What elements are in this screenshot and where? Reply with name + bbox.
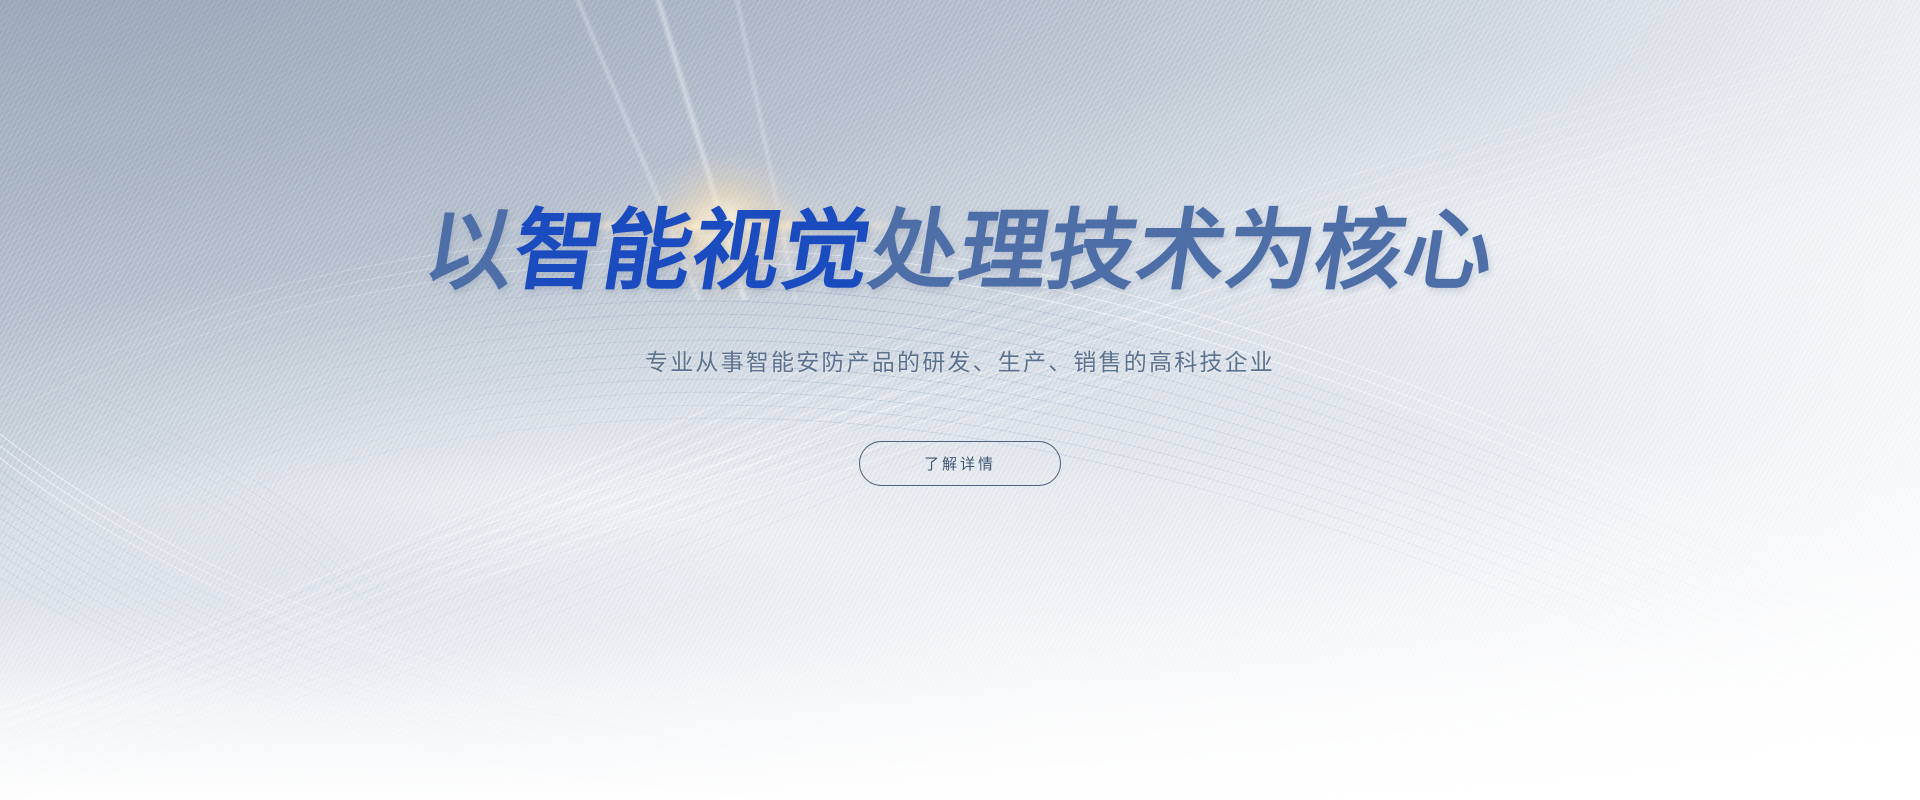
headline-segment-2: 智能视觉 (507, 199, 879, 302)
headline-segment-3: 处理技术为核心 (863, 199, 1502, 302)
hero-banner: 以智能视觉处理技术为核心 专业从事智能安防产品的研发、生产、销售的高科技企业 了… (0, 0, 1920, 800)
learn-more-button[interactable]: 了解详情 (859, 441, 1061, 486)
hero-headline: 以智能视觉处理技术为核心 (419, 205, 1502, 297)
hero-subtitle: 专业从事智能安防产品的研发、生产、销售的高科技企业 (645, 343, 1275, 377)
headline-segment-1: 以 (418, 199, 523, 302)
hero-content: 以智能视觉处理技术为核心 专业从事智能安防产品的研发、生产、销售的高科技企业 了… (0, 0, 1920, 800)
